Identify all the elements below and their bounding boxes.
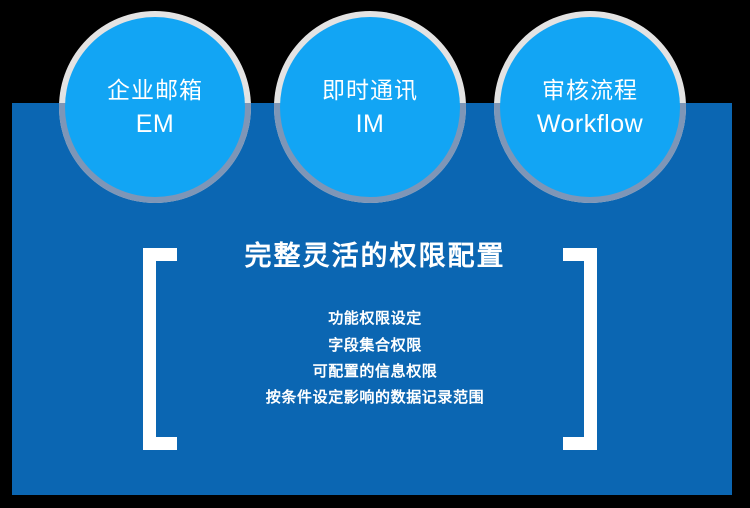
content-block: 完整灵活的权限配置 功能权限设定 字段集合权限 可配置的信息权限 按条件设定影响… [185,240,565,406]
circle-im-label-cn: 即时通讯 [322,76,418,105]
circle-im-label-en: IM [356,111,385,139]
circle-workflow-label-en: Workflow [537,111,643,139]
right-bracket-icon [563,248,597,450]
circle-em-label-en: EM [136,111,175,139]
circle-workflow[interactable]: 审核流程 Workflow [500,17,680,197]
section-title: 完整灵活的权限配置 [185,240,565,272]
feature-list-item: 功能权限设定 [185,310,565,327]
circle-em-label-cn: 企业邮箱 [107,76,203,105]
feature-list-item: 按条件设定影响的数据记录范围 [185,389,565,406]
feature-list-item: 字段集合权限 [185,337,565,354]
left-bracket-icon [143,248,177,450]
infographic-canvas: 企业邮箱 EM 即时通讯 IM 审核流程 Workflow 完整灵活的权限配置 … [0,0,750,508]
circle-workflow-label-cn: 审核流程 [542,76,638,105]
circle-em[interactable]: 企业邮箱 EM [65,17,245,197]
feature-list-item: 可配置的信息权限 [185,363,565,380]
circle-im[interactable]: 即时通讯 IM [280,17,460,197]
feature-list: 功能权限设定 字段集合权限 可配置的信息权限 按条件设定影响的数据记录范围 [185,310,565,406]
